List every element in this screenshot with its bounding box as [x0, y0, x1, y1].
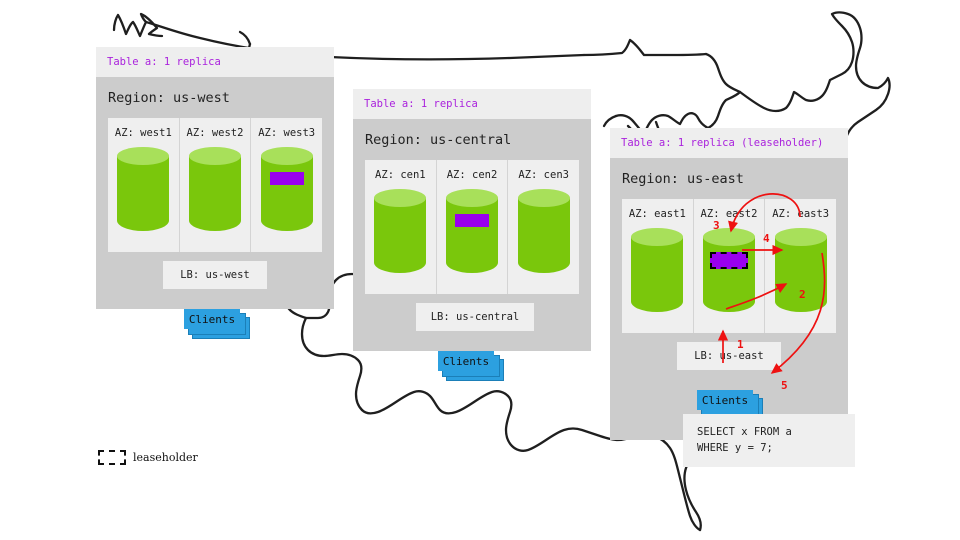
cylinder-west1[interactable] [117, 147, 169, 231]
cylinder-east2[interactable] [703, 228, 755, 312]
az-label-east3: AZ: east3 [765, 208, 836, 220]
replica-cen2[interactable] [455, 214, 489, 227]
az-cell-cen2[interactable]: AZ: cen2 [437, 160, 509, 294]
replica-east2[interactable] [710, 252, 748, 269]
diagram-canvas: Table a: 1 replica Region: us-west AZ: w… [0, 0, 960, 540]
az-label-west2: AZ: west2 [180, 127, 251, 139]
az-label-cen1: AZ: cen1 [365, 169, 436, 181]
az-row-us-central: AZ: cen1 AZ: cen2 AZ: cen3 [365, 160, 579, 294]
az-cell-east3[interactable]: AZ: east3 [765, 199, 836, 333]
arrow-label-2: 2 [799, 288, 806, 301]
cylinder-top [631, 228, 683, 246]
cylinder-top [189, 147, 241, 165]
cylinder-west3[interactable] [261, 147, 313, 231]
az-cell-east1[interactable]: AZ: east1 [622, 199, 694, 333]
cylinder-body [261, 156, 313, 231]
cylinder-body [703, 237, 755, 312]
arrow-label-1: 1 [737, 338, 744, 351]
az-cell-cen3[interactable]: AZ: cen3 [508, 160, 579, 294]
az-label-west1: AZ: west1 [108, 127, 179, 139]
region-panel-us-east: Table a: 1 replica (leaseholder) Region:… [610, 128, 848, 440]
cylinder-cen2[interactable] [446, 189, 498, 273]
clients-us-central[interactable]: Clients [438, 351, 502, 379]
cylinder-top [117, 147, 169, 165]
region-panel-us-west: Table a: 1 replica Region: us-west AZ: w… [96, 47, 334, 309]
clients-label-us-east[interactable]: Clients [697, 390, 753, 410]
cylinder-cen3[interactable] [518, 189, 570, 273]
az-label-east1: AZ: east1 [622, 208, 693, 220]
cylinder-top [518, 189, 570, 207]
sql-query-box: SELECT x FROM a WHERE y = 7; [683, 414, 855, 467]
az-label-cen3: AZ: cen3 [508, 169, 579, 181]
clients-label-us-west[interactable]: Clients [184, 309, 240, 329]
cylinder-body [189, 156, 241, 231]
region-title-us-west: Region: us-west [96, 77, 334, 118]
cylinder-top [775, 228, 827, 246]
leaseholder-swatch-icon [98, 450, 126, 465]
region-header-us-east: Table a: 1 replica (leaseholder) [610, 128, 848, 158]
region-title-us-central: Region: us-central [353, 119, 591, 160]
arrow-label-3: 3 [713, 219, 720, 232]
lb-box-us-east[interactable]: LB: us-east [677, 342, 781, 370]
cylinder-body [518, 198, 570, 273]
cylinder-body [446, 198, 498, 273]
az-cell-west2[interactable]: AZ: west2 [180, 118, 252, 252]
legend-label: leaseholder [133, 451, 198, 464]
region-title-us-east: Region: us-east [610, 158, 848, 199]
cylinder-top [446, 189, 498, 207]
region-header-us-west: Table a: 1 replica [96, 47, 334, 77]
az-cell-west3[interactable]: AZ: west3 [251, 118, 322, 252]
cylinder-cen1[interactable] [374, 189, 426, 273]
cylinder-east1[interactable] [631, 228, 683, 312]
arrow-label-4: 4 [763, 232, 770, 245]
az-cell-east2[interactable]: AZ: east2 [694, 199, 766, 333]
region-header-us-central: Table a: 1 replica [353, 89, 591, 119]
az-label-west3: AZ: west3 [251, 127, 322, 139]
cylinder-body [117, 156, 169, 231]
cylinder-top [374, 189, 426, 207]
cylinder-top [703, 228, 755, 246]
az-row-us-east: AZ: east1 AZ: east2 AZ: east3 [622, 199, 836, 333]
lb-box-us-west[interactable]: LB: us-west [163, 261, 267, 289]
az-cell-cen1[interactable]: AZ: cen1 [365, 160, 437, 294]
az-row-us-west: AZ: west1 AZ: west2 AZ: west3 [108, 118, 322, 252]
replica-west3[interactable] [270, 172, 304, 185]
legend-leaseholder: leaseholder [98, 450, 198, 465]
cylinder-body [374, 198, 426, 273]
cylinder-top [261, 147, 313, 165]
az-cell-west1[interactable]: AZ: west1 [108, 118, 180, 252]
cylinder-west2[interactable] [189, 147, 241, 231]
clients-label-us-central[interactable]: Clients [438, 351, 494, 371]
arrow-label-5: 5 [781, 379, 788, 392]
az-label-cen2: AZ: cen2 [437, 169, 508, 181]
az-label-east2: AZ: east2 [694, 208, 765, 220]
lb-box-us-central[interactable]: LB: us-central [416, 303, 534, 331]
clients-us-west[interactable]: Clients [184, 309, 248, 337]
region-panel-us-central: Table a: 1 replica Region: us-central AZ… [353, 89, 591, 351]
cylinder-body [631, 237, 683, 312]
